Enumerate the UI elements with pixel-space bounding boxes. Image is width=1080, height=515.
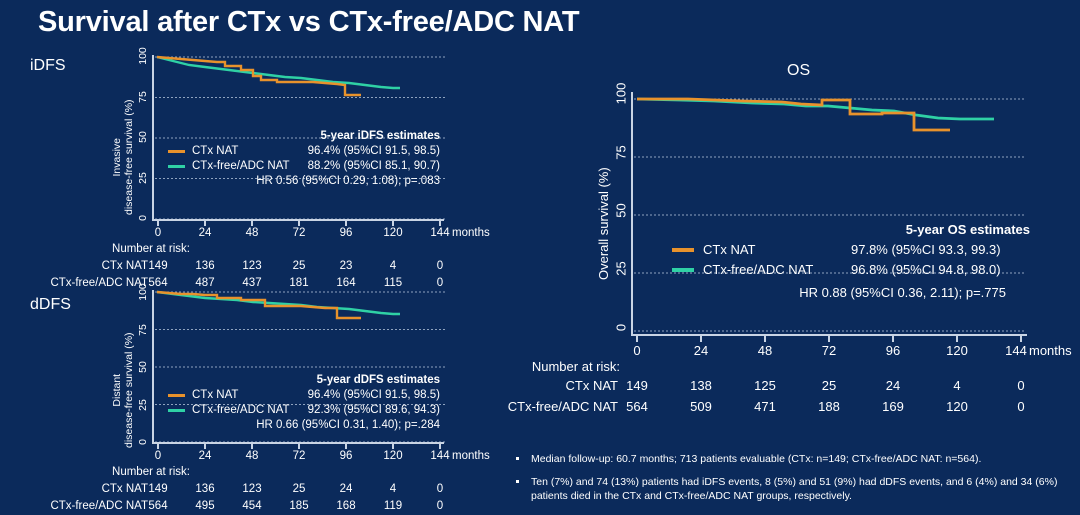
legend-os-hr: HR 0.88 (95%CI 0.36, 2.11); p=.775 <box>672 285 1030 300</box>
legend-os-name-1: CTx-free/ADC NAT <box>703 262 851 277</box>
legend-os-name-0: CTx NAT <box>703 242 851 257</box>
idfs-xtick-0: 0 <box>155 227 161 239</box>
risk-ddfs-1-5: 119 <box>384 500 402 512</box>
os-ytick-25: 25 <box>614 259 629 279</box>
risk-row-os-ctx-nat: CTx NAT 149 138 125 25 24 4 0 <box>0 378 1080 399</box>
ddfs-curve-ctx-free <box>157 292 400 314</box>
bullet-text-0: Median follow-up: 60.7 months; 713 patie… <box>531 453 981 465</box>
page-title: Survival after CTx vs CTx-free/ADC NAT <box>38 6 579 39</box>
idfs-xtick-72: 72 <box>293 227 306 239</box>
os-y-axis-line <box>631 92 633 335</box>
risk-table-os-title: Number at risk: <box>440 359 620 374</box>
risk-ddfs-0-5: 4 <box>390 483 396 495</box>
legend-os: 5-year OS estimates CTx NAT 97.8% (95%CI… <box>672 222 1030 300</box>
idfs-ytick-50: 50 <box>137 128 149 146</box>
risk-row-ddfs-label-0: CTx NAT <box>0 483 148 495</box>
risk-os-0-3: 25 <box>822 378 836 393</box>
os-ytick-75: 75 <box>614 143 629 163</box>
risk-table-os: Number at risk: <box>440 359 620 374</box>
risk-os-0-5: 4 <box>953 378 960 393</box>
risk-idfs-0-4: 23 <box>340 260 353 272</box>
legend-line-swatch-teal-icon <box>168 165 185 168</box>
risk-os-1-3: 188 <box>818 399 840 414</box>
chart-ddfs-canvas <box>155 288 485 458</box>
os-xtick-120: 120 <box>946 343 968 358</box>
risk-os-1-2: 471 <box>754 399 776 414</box>
os-ytick-50: 50 <box>614 201 629 221</box>
idfs-xtick-96: 96 <box>340 227 353 239</box>
risk-os-0-1: 138 <box>690 378 712 393</box>
idfs-curve-ctx-free <box>157 57 400 88</box>
risk-os-0-4: 24 <box>886 378 900 393</box>
risk-os-0-6: 0 <box>1017 378 1024 393</box>
legend-idfs: 5-year iDFS estimates CTx NAT 96.4% (95%… <box>168 130 440 187</box>
ddfs-x-axis-unit: months <box>452 450 490 462</box>
idfs-x-axis-unit: months <box>452 227 490 239</box>
ddfs-ytick-75: 75 <box>137 321 149 339</box>
slide-root: Survival after CTx vs CTx-free/ADC NAT i… <box>0 0 1080 515</box>
risk-ddfs-0-4: 24 <box>340 483 353 495</box>
risk-idfs-0-0: 149 <box>148 260 167 272</box>
legend-os-row-ctx-nat: CTx NAT 97.8% (95%CI 93.3, 99.3) <box>672 242 1030 257</box>
risk-ddfs-1-1: 495 <box>195 500 214 512</box>
idfs-xtick-120: 120 <box>383 227 402 239</box>
legend-idfs-value-0: 96.4% (95%CI 91.5, 98.5) <box>308 145 440 157</box>
os-x-axis-unit: months <box>1029 343 1072 358</box>
legend-os-row-ctx-free: CTx-free/ADC NAT 96.8% (95%CI 94.8, 98.0… <box>672 262 1030 277</box>
y-axis-title-idfs-line2: disease-free survival (%) <box>124 99 136 215</box>
legend-idfs-value-1: 88.2% (95%CI 85.1, 90.7) <box>308 160 440 172</box>
legend-line-swatch-orange-icon <box>168 150 185 153</box>
risk-os-1-1: 509 <box>690 399 712 414</box>
idfs-xtick-144: 144 <box>430 227 449 239</box>
ddfs-ytick-50: 50 <box>137 358 149 376</box>
ddfs-xtick-24: 24 <box>199 450 212 462</box>
os-xtick-24: 24 <box>694 343 708 358</box>
os-curve-ctx-free <box>637 99 994 119</box>
os-xtick-144: 144 <box>1005 343 1027 358</box>
idfs-ytick-75: 75 <box>137 88 149 106</box>
risk-ddfs-0-1: 136 <box>195 483 214 495</box>
risk-row-os-label-1: CTx-free/ADC NAT <box>0 399 618 414</box>
risk-os-1-5: 120 <box>946 399 968 414</box>
risk-table-idfs: Number at risk: <box>10 243 190 255</box>
legend-idfs-name-1: CTx-free/ADC NAT <box>192 160 308 172</box>
bullet-text-1: Ten (7%) and 74 (13%) patients had iDFS … <box>531 476 1057 502</box>
risk-ddfs-0-0: 149 <box>148 483 167 495</box>
ddfs-ytick-0: 0 <box>137 436 149 448</box>
y-axis-title-idfs-line1: Invasive <box>112 99 124 215</box>
panel-heading-os: OS <box>787 62 810 80</box>
legend-os-title: 5-year OS estimates <box>672 222 1030 237</box>
legend-line-swatch-orange-icon <box>672 248 694 252</box>
risk-row-idfs-label-0: CTx NAT <box>0 260 148 272</box>
risk-ddfs-1-2: 454 <box>242 500 261 512</box>
ddfs-xtick-144: 144 <box>430 450 449 462</box>
legend-idfs-row-ctx-free: CTx-free/ADC NAT 88.2% (95%CI 85.1, 90.7… <box>168 160 440 172</box>
legend-os-value-0: 97.8% (95%CI 93.3, 99.3) <box>851 242 1001 257</box>
idfs-ytick-100: 100 <box>137 45 149 67</box>
ddfs-xtick-120: 120 <box>383 450 402 462</box>
os-ytick-0: 0 <box>614 322 629 334</box>
risk-os-0-2: 125 <box>754 378 776 393</box>
risk-row-idfs-label-1: CTx-free/ADC NAT <box>0 277 148 289</box>
risk-ddfs-0-3: 25 <box>293 483 306 495</box>
bullet-dot-icon <box>516 480 519 483</box>
risk-table-ddfs-title: Number at risk: <box>10 466 190 478</box>
risk-row-os-label-0: CTx NAT <box>0 378 618 393</box>
risk-row-ddfs-label-1: CTx-free/ADC NAT <box>0 500 148 512</box>
risk-ddfs-1-4: 168 <box>336 500 355 512</box>
idfs-xtick-24: 24 <box>199 227 212 239</box>
risk-idfs-0-2: 123 <box>242 260 261 272</box>
risk-os-1-0: 564 <box>626 399 648 414</box>
legend-idfs-hr: HR 0.56 (95%CI 0.29, 1.08); p=.083 <box>168 175 440 187</box>
ddfs-ytick-100: 100 <box>137 281 149 303</box>
risk-ddfs-0-6: 0 <box>437 483 443 495</box>
y-axis-title-idfs: Invasive disease-free survival (%) <box>112 99 135 215</box>
footnote-bullets: Median follow-up: 60.7 months; 713 patie… <box>508 452 1074 512</box>
risk-table-idfs-title: Number at risk: <box>10 243 190 255</box>
os-ytick-100: 100 <box>614 81 629 107</box>
risk-idfs-0-1: 136 <box>195 260 214 272</box>
risk-os-1-4: 169 <box>882 399 904 414</box>
os-curve-ctx-nat <box>637 99 950 130</box>
risk-idfs-0-5: 4 <box>390 260 396 272</box>
legend-idfs-row-ctx-nat: CTx NAT 96.4% (95%CI 91.5, 98.5) <box>168 145 440 157</box>
risk-idfs-0-6: 0 <box>437 260 443 272</box>
idfs-curve-ctx-nat <box>157 57 361 95</box>
risk-row-os-ctx-free: CTx-free/ADC NAT 564 509 471 188 169 120… <box>0 399 1080 420</box>
os-xtick-72: 72 <box>822 343 836 358</box>
risk-os-0-0: 149 <box>626 378 648 393</box>
legend-idfs-name-0: CTx NAT <box>192 145 308 157</box>
chart-os-canvas <box>634 88 1054 338</box>
os-xtick-96: 96 <box>886 343 900 358</box>
idfs-ytick-0: 0 <box>137 212 149 224</box>
idfs-y-axis-line <box>152 55 154 220</box>
idfs-ytick-25: 25 <box>137 169 149 187</box>
ddfs-xtick-72: 72 <box>293 450 306 462</box>
ddfs-xtick-0: 0 <box>155 450 161 462</box>
risk-ddfs-0-2: 123 <box>242 483 261 495</box>
risk-ddfs-1-3: 185 <box>289 500 308 512</box>
risk-ddfs-1-6: 0 <box>437 500 443 512</box>
legend-idfs-title: 5-year iDFS estimates <box>168 130 440 142</box>
bullet-dot-icon <box>516 457 519 460</box>
y-axis-title-os: Overall survival (%) <box>598 167 610 280</box>
ddfs-xtick-96: 96 <box>340 450 353 462</box>
risk-table-ddfs: Number at risk: <box>10 466 190 478</box>
risk-ddfs-1-0: 564 <box>148 500 167 512</box>
bullet-item-1: Ten (7%) and 74 (13%) patients had iDFS … <box>508 475 1074 503</box>
risk-table-os-rows: CTx NAT 149 138 125 25 24 4 0 CTx-free/A… <box>0 378 1080 426</box>
risk-os-1-6: 0 <box>1017 399 1024 414</box>
ddfs-xtick-48: 48 <box>246 450 259 462</box>
legend-line-swatch-teal-icon <box>672 268 694 272</box>
bullet-item-0: Median follow-up: 60.7 months; 713 patie… <box>508 452 1074 466</box>
os-xtick-48: 48 <box>758 343 772 358</box>
panel-heading-ddfs: dDFS <box>30 296 71 314</box>
panel-heading-idfs: iDFS <box>30 57 66 75</box>
idfs-xtick-48: 48 <box>246 227 259 239</box>
os-xtick-0: 0 <box>633 343 640 358</box>
risk-idfs-0-3: 25 <box>293 260 306 272</box>
legend-os-value-1: 96.8% (95%CI 94.8, 98.0) <box>851 262 1001 277</box>
